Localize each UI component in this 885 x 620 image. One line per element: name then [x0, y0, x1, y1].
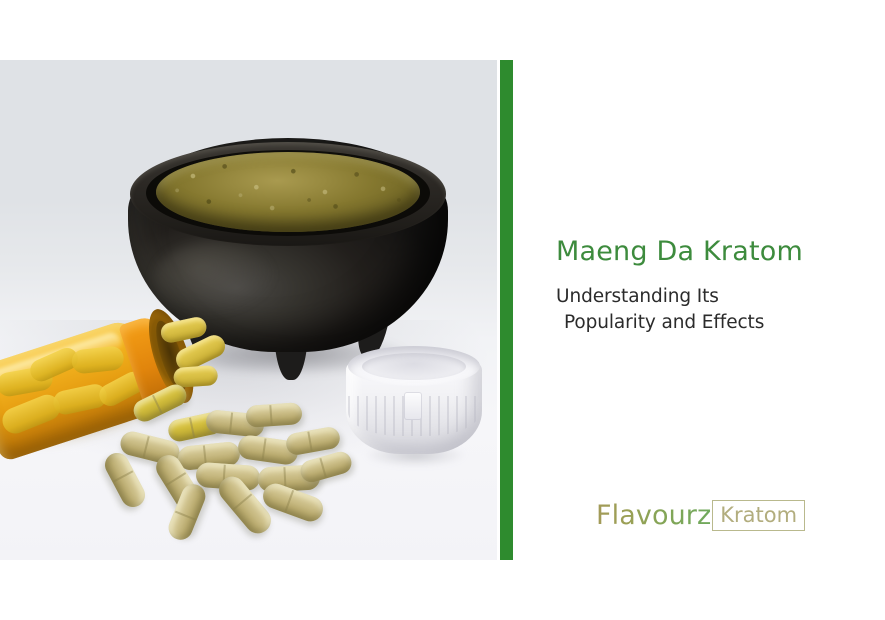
logo-badge: Kratom: [712, 500, 805, 531]
hero-photo: [0, 60, 497, 560]
cap-inner-ring: [362, 353, 466, 380]
logo-wordmark: Flavourz: [596, 500, 711, 531]
brand-logo: Flavourz Kratom: [596, 500, 805, 531]
capsule-inside-bottle: [71, 345, 125, 374]
subtitle-line-1: Understanding Its: [556, 286, 719, 307]
kratom-powder: [156, 152, 420, 232]
text-column: Maeng Da Kratom Understanding Its Popula…: [556, 0, 856, 620]
capsule: [245, 402, 302, 428]
page-subtitle: Understanding Its Popularity and Effects: [556, 284, 764, 336]
slide-canvas: Maeng Da Kratom Understanding Its Popula…: [0, 0, 885, 620]
vertical-divider: [500, 60, 513, 560]
powder-texture: [156, 152, 420, 232]
page-title: Maeng Da Kratom: [556, 236, 803, 267]
bottle-cap: [344, 346, 484, 472]
cap-tab: [404, 392, 422, 420]
subtitle-line-2: Popularity and Effects: [564, 310, 764, 336]
